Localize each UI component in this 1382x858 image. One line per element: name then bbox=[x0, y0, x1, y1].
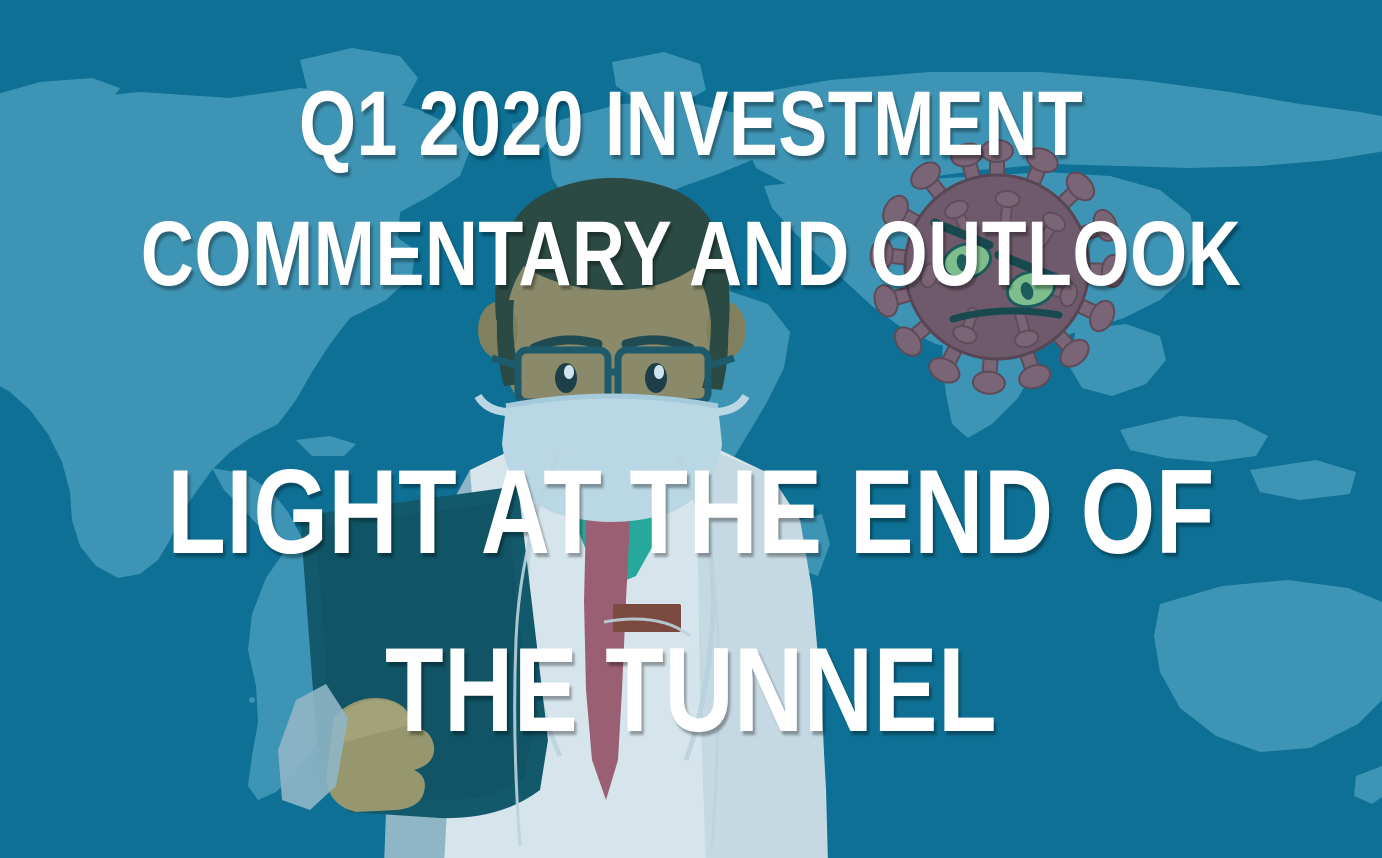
doctor-mask-strap-left bbox=[478, 396, 506, 412]
doctor-eye-highlight-left bbox=[564, 365, 574, 379]
doctor-mask-strap-right bbox=[718, 396, 746, 412]
doctor-name-badge bbox=[613, 604, 681, 632]
doctor-eye-highlight-right bbox=[654, 365, 664, 379]
doctor-svg bbox=[0, 0, 1382, 858]
title-slide: Q1 2020 INVESTMENT COMMENTARY AND OUTLOO… bbox=[0, 0, 1382, 858]
doctor-with-face-mask bbox=[0, 0, 1382, 858]
